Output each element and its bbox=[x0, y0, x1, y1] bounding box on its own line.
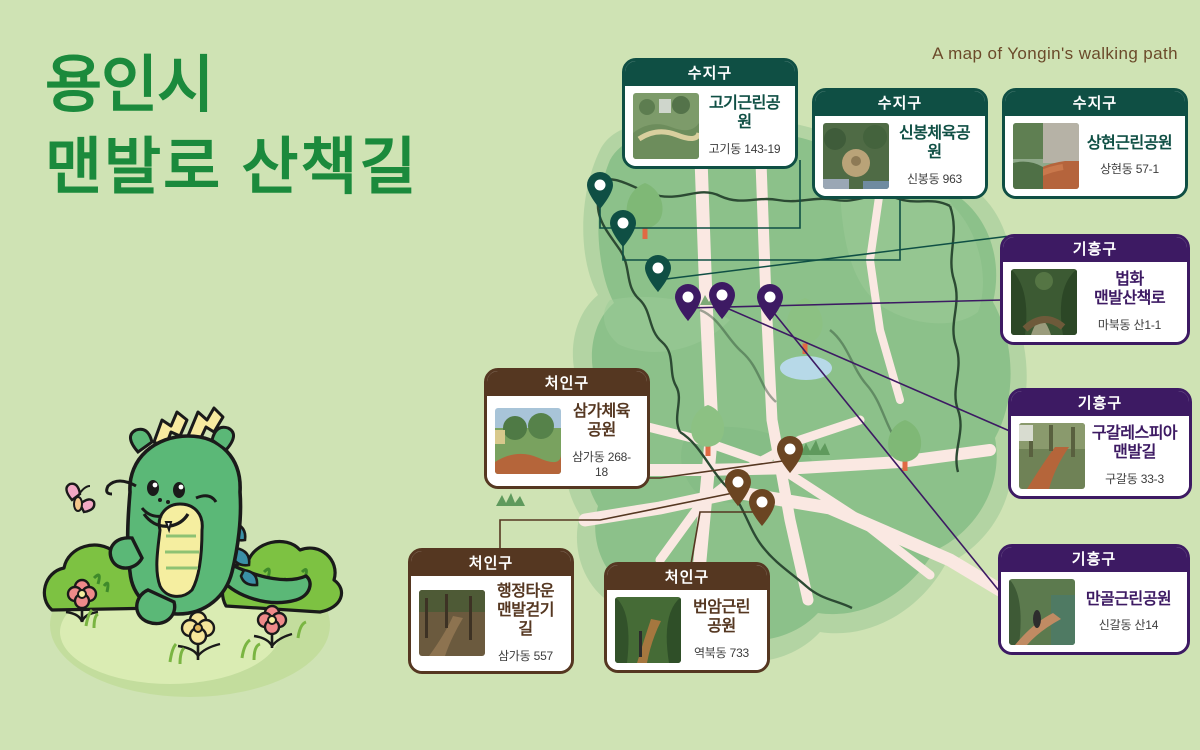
card-district-label: 기흥구 bbox=[1011, 391, 1189, 416]
card-park-name: 삼가체육공원 bbox=[566, 403, 637, 441]
park-card-sanghyun[interactable]: 수지구 상현근린공원 상현동 57-1 bbox=[1002, 88, 1188, 199]
card-district-label: 처인구 bbox=[411, 551, 571, 576]
park-photo-beonam bbox=[615, 597, 681, 663]
park-card-guigal[interactable]: 기흥구 구갈레스피아 맨발길 구갈동 33-3 bbox=[1008, 388, 1192, 499]
park-card-mangol[interactable]: 기흥구 만골근린공원 신갈동 산14 bbox=[998, 544, 1190, 655]
card-address: 구갈동 33-3 bbox=[1090, 470, 1179, 487]
card-district-label: 처인구 bbox=[487, 371, 647, 396]
park-card-sinbong[interactable]: 수지구 신봉체육공원 신봉동 963 bbox=[812, 88, 988, 199]
card-district-label: 기흥구 bbox=[1003, 237, 1187, 262]
card-park-name-line2: 맨발산책로 bbox=[1082, 290, 1177, 309]
park-photo-sinbong bbox=[823, 123, 889, 189]
card-address: 삼가동 557 bbox=[490, 647, 561, 664]
card-park-name-line2: 맨발걷기길 bbox=[490, 602, 561, 640]
dragon-body bbox=[107, 408, 310, 624]
park-photo-samga bbox=[495, 408, 561, 474]
card-address: 신갈동 산14 bbox=[1080, 616, 1177, 633]
butterfly-icon bbox=[66, 484, 94, 512]
park-photo-mangol bbox=[1009, 579, 1075, 645]
park-photo-guigal bbox=[1019, 423, 1085, 489]
card-address: 상현동 57-1 bbox=[1084, 160, 1175, 177]
card-park-name-line1: 구갈레스피아 bbox=[1090, 425, 1179, 444]
park-photo-gogi bbox=[633, 93, 699, 159]
card-park-name-line2: 맨발길 bbox=[1090, 444, 1179, 463]
park-photo-haengjeong bbox=[419, 590, 485, 656]
card-address: 삼가동 268-18 bbox=[566, 448, 637, 479]
park-card-haengjeong[interactable]: 처인구 행정타운 맨발걷기길 삼가동 557 bbox=[408, 548, 574, 674]
card-district-label: 수지구 bbox=[815, 91, 985, 116]
park-card-samga[interactable]: 처인구 삼가체육공원 삼가동 268-18 bbox=[484, 368, 650, 489]
card-address: 고기동 143-19 bbox=[704, 140, 785, 157]
dragon-mascot-illustration bbox=[20, 400, 360, 720]
card-district-label: 수지구 bbox=[1005, 91, 1185, 116]
map-lake bbox=[780, 356, 832, 380]
card-park-name-line1: 행정타운 bbox=[490, 583, 561, 602]
card-address: 신봉동 963 bbox=[894, 170, 975, 187]
map-shrub-icon bbox=[496, 493, 525, 506]
card-park-name: 신봉체육공원 bbox=[894, 125, 975, 163]
infographic-poster: 용인시 맨발로 산책길 A map of Yongin's walking pa… bbox=[0, 0, 1200, 750]
card-park-name: 고기근린공원 bbox=[704, 95, 785, 133]
card-park-name: 번암근린공원 bbox=[686, 599, 757, 637]
card-district-label: 기흥구 bbox=[1001, 547, 1187, 572]
card-park-name-line1: 법화 bbox=[1082, 271, 1177, 290]
park-card-gogi[interactable]: 수지구 고기근린공원 고기동 143-19 bbox=[622, 58, 798, 169]
park-card-beonam[interactable]: 처인구 번암근린공원 역북동 733 bbox=[604, 562, 770, 673]
card-district-label: 처인구 bbox=[607, 565, 767, 590]
card-address: 역북동 733 bbox=[686, 644, 757, 661]
card-park-name: 상현근린공원 bbox=[1084, 135, 1175, 154]
card-district-label: 수지구 bbox=[625, 61, 795, 86]
card-address: 마북동 산1-1 bbox=[1082, 316, 1177, 333]
park-photo-sanghyun bbox=[1013, 123, 1079, 189]
park-photo-beophwa bbox=[1011, 269, 1077, 335]
card-park-name: 만골근린공원 bbox=[1080, 591, 1177, 610]
park-card-beophwa[interactable]: 기흥구 법화 맨발산책로 마북동 산1-1 bbox=[1000, 234, 1190, 345]
